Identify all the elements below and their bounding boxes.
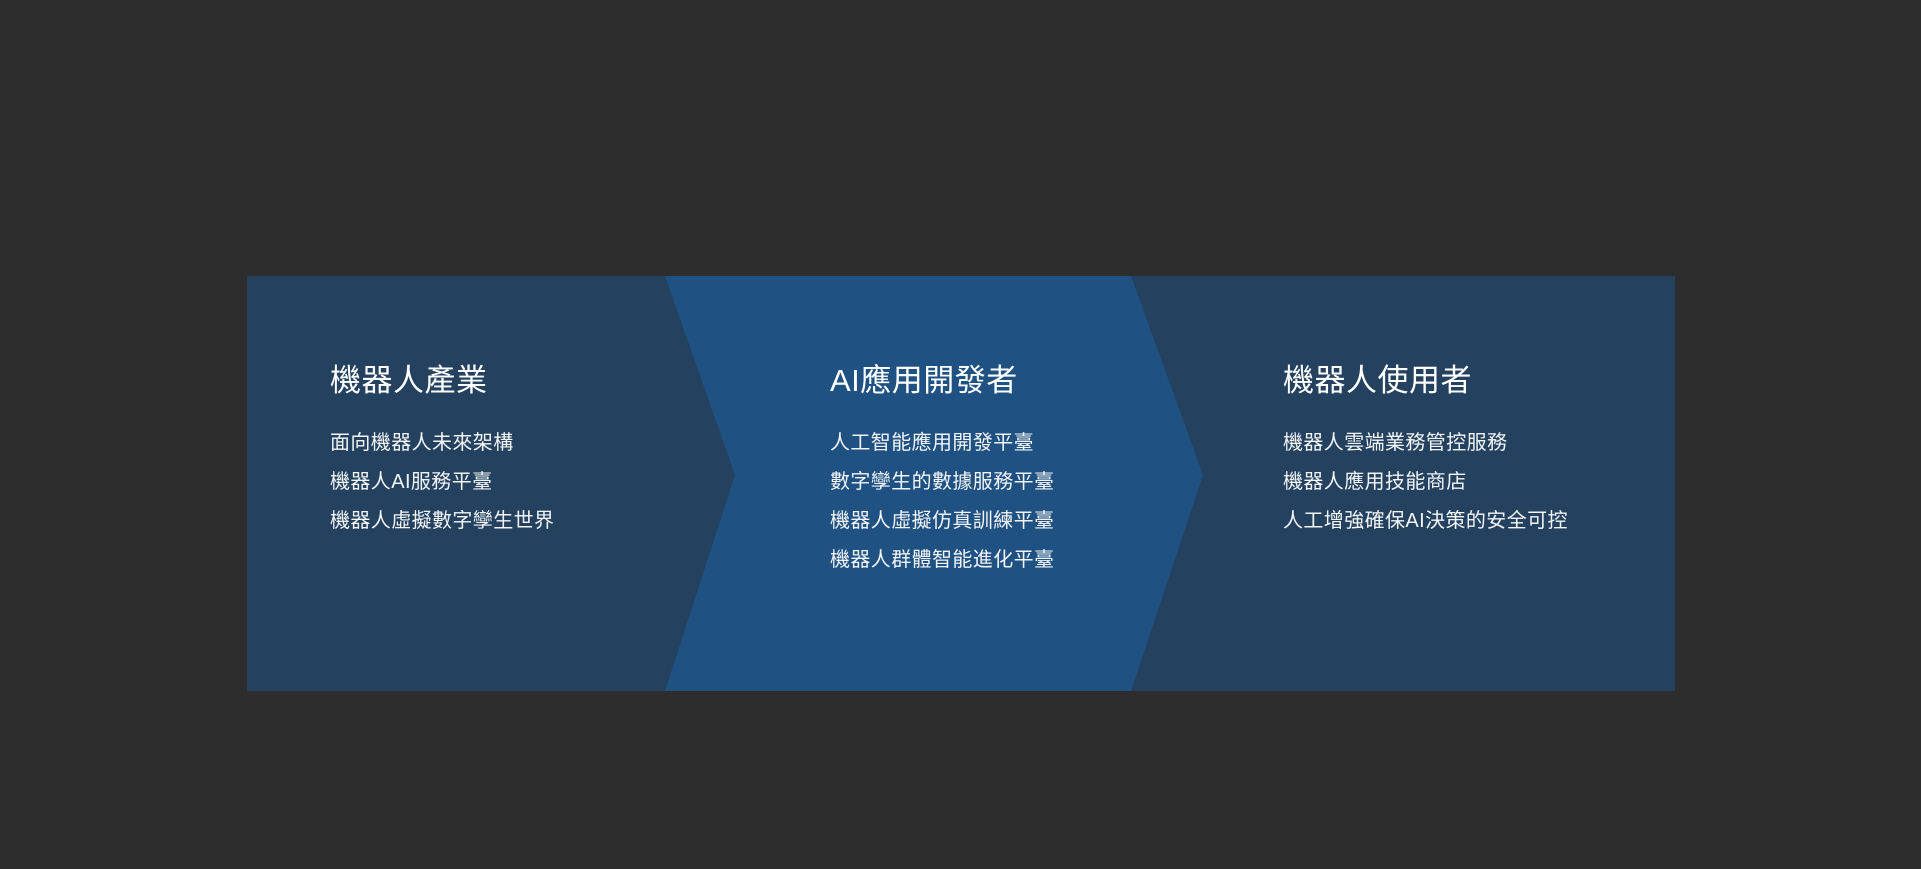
column-robot-industry: 機器人產業 面向機器人未來架構 機器人AI服務平臺 機器人虛擬數字孿生世界	[330, 276, 730, 691]
column-heading: 機器人使用者	[1283, 362, 1472, 400]
column-heading: 機器人產業	[330, 362, 488, 400]
column-robot-user: 機器人使用者 機器人雲端業務管控服務 機器人應用技能商店 人工增強確保AI決策的…	[1283, 276, 1663, 691]
list-item: 機器人虛擬數字孿生世界	[330, 502, 554, 541]
slide-canvas: 機器人產業 面向機器人未來架構 機器人AI服務平臺 機器人虛擬數字孿生世界 AI…	[0, 0, 1921, 869]
list-item: 機器人群體智能進化平臺	[830, 541, 1054, 580]
chevron-banner: 機器人產業 面向機器人未來架構 機器人AI服務平臺 機器人虛擬數字孿生世界 AI…	[247, 276, 1675, 691]
list-item: 機器人應用技能商店	[1283, 463, 1568, 502]
list-item: 人工智能應用開發平臺	[830, 424, 1054, 463]
column-heading: AI應用開發者	[830, 362, 1018, 400]
list-item: 面向機器人未來架構	[330, 424, 554, 463]
column-item-list: 面向機器人未來架構 機器人AI服務平臺 機器人虛擬數字孿生世界	[330, 424, 554, 541]
list-item: 機器人AI服務平臺	[330, 463, 554, 502]
list-item: 機器人雲端業務管控服務	[1283, 424, 1568, 463]
list-item: 機器人虛擬仿真訓練平臺	[830, 502, 1054, 541]
column-item-list: 人工智能應用開發平臺 數字孿生的數據服務平臺 機器人虛擬仿真訓練平臺 機器人群體…	[830, 424, 1054, 580]
column-item-list: 機器人雲端業務管控服務 機器人應用技能商店 人工增強確保AI決策的安全可控	[1283, 424, 1568, 541]
list-item: 人工增強確保AI決策的安全可控	[1283, 502, 1568, 541]
column-ai-app-developer: AI應用開發者 人工智能應用開發平臺 數字孿生的數據服務平臺 機器人虛擬仿真訓練…	[830, 276, 1230, 691]
list-item: 數字孿生的數據服務平臺	[830, 463, 1054, 502]
